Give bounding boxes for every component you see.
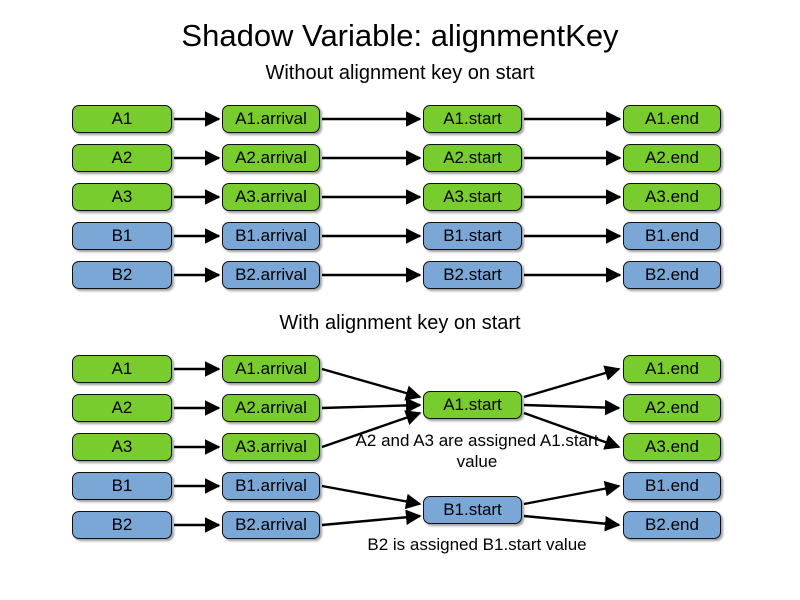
node-b2: B2 bbox=[72, 511, 172, 539]
node-b2-start: B2.start bbox=[423, 261, 522, 289]
arrow bbox=[322, 405, 420, 408]
arrow-layer bbox=[0, 0, 800, 600]
node-b1-arrival: B1.arrival bbox=[222, 222, 320, 250]
arrow bbox=[524, 516, 619, 525]
arrow bbox=[322, 516, 420, 525]
node-b2-arrival: B2.arrival bbox=[222, 261, 320, 289]
node-a3-end: A3.end bbox=[623, 433, 721, 461]
node-a2-arrival: A2.arrival bbox=[222, 394, 320, 422]
node-b2-end: B2.end bbox=[623, 261, 721, 289]
node-b1-arrival: B1.arrival bbox=[222, 472, 320, 500]
node-a3-arrival: A3.arrival bbox=[222, 183, 320, 211]
arrow bbox=[322, 486, 420, 504]
node-a1-arrival: A1.arrival bbox=[222, 355, 320, 383]
arrow bbox=[524, 486, 619, 504]
arrow bbox=[524, 369, 619, 397]
node-b1: B1 bbox=[72, 222, 172, 250]
node-a3-end: A3.end bbox=[623, 183, 721, 211]
node-a3: A3 bbox=[72, 183, 172, 211]
node-a2-end: A2.end bbox=[623, 144, 721, 172]
section-heading-without-alignment-key: Without alignment key on start bbox=[0, 62, 800, 85]
arrow bbox=[322, 369, 420, 397]
node-a2-start: A2.start bbox=[423, 144, 522, 172]
node-a1: A1 bbox=[72, 105, 172, 133]
section-heading-with-alignment-key: With alignment key on start bbox=[0, 312, 800, 335]
diagram-canvas: Shadow Variable: alignmentKey Without al… bbox=[0, 0, 800, 600]
node-a1: A1 bbox=[72, 355, 172, 383]
node-a1-start: A1.start bbox=[423, 105, 522, 133]
node-b1-start: B1.start bbox=[423, 496, 522, 524]
node-a2: A2 bbox=[72, 394, 172, 422]
node-b1: B1 bbox=[72, 472, 172, 500]
node-b2: B2 bbox=[72, 261, 172, 289]
node-a1-arrival: A1.arrival bbox=[222, 105, 320, 133]
arrow bbox=[524, 405, 619, 408]
node-a1-start: A1.start bbox=[423, 391, 522, 419]
node-b1-start: B1.start bbox=[423, 222, 522, 250]
node-b1-end: B1.end bbox=[623, 472, 721, 500]
node-a3-arrival: A3.arrival bbox=[222, 433, 320, 461]
node-a3: A3 bbox=[72, 433, 172, 461]
annotation-a-group-note: A2 and A3 are assigned A1.start value bbox=[352, 430, 602, 472]
page-title: Shadow Variable: alignmentKey bbox=[0, 18, 800, 54]
node-a1-end: A1.end bbox=[623, 105, 721, 133]
node-a2-arrival: A2.arrival bbox=[222, 144, 320, 172]
node-a3-start: A3.start bbox=[423, 183, 522, 211]
node-a2: A2 bbox=[72, 144, 172, 172]
node-b2-arrival: B2.arrival bbox=[222, 511, 320, 539]
node-b2-end: B2.end bbox=[623, 511, 721, 539]
node-a1-end: A1.end bbox=[623, 355, 721, 383]
annotation-b-group-note: B2 is assigned B1.start value bbox=[348, 534, 606, 555]
node-b1-end: B1.end bbox=[623, 222, 721, 250]
node-a2-end: A2.end bbox=[623, 394, 721, 422]
